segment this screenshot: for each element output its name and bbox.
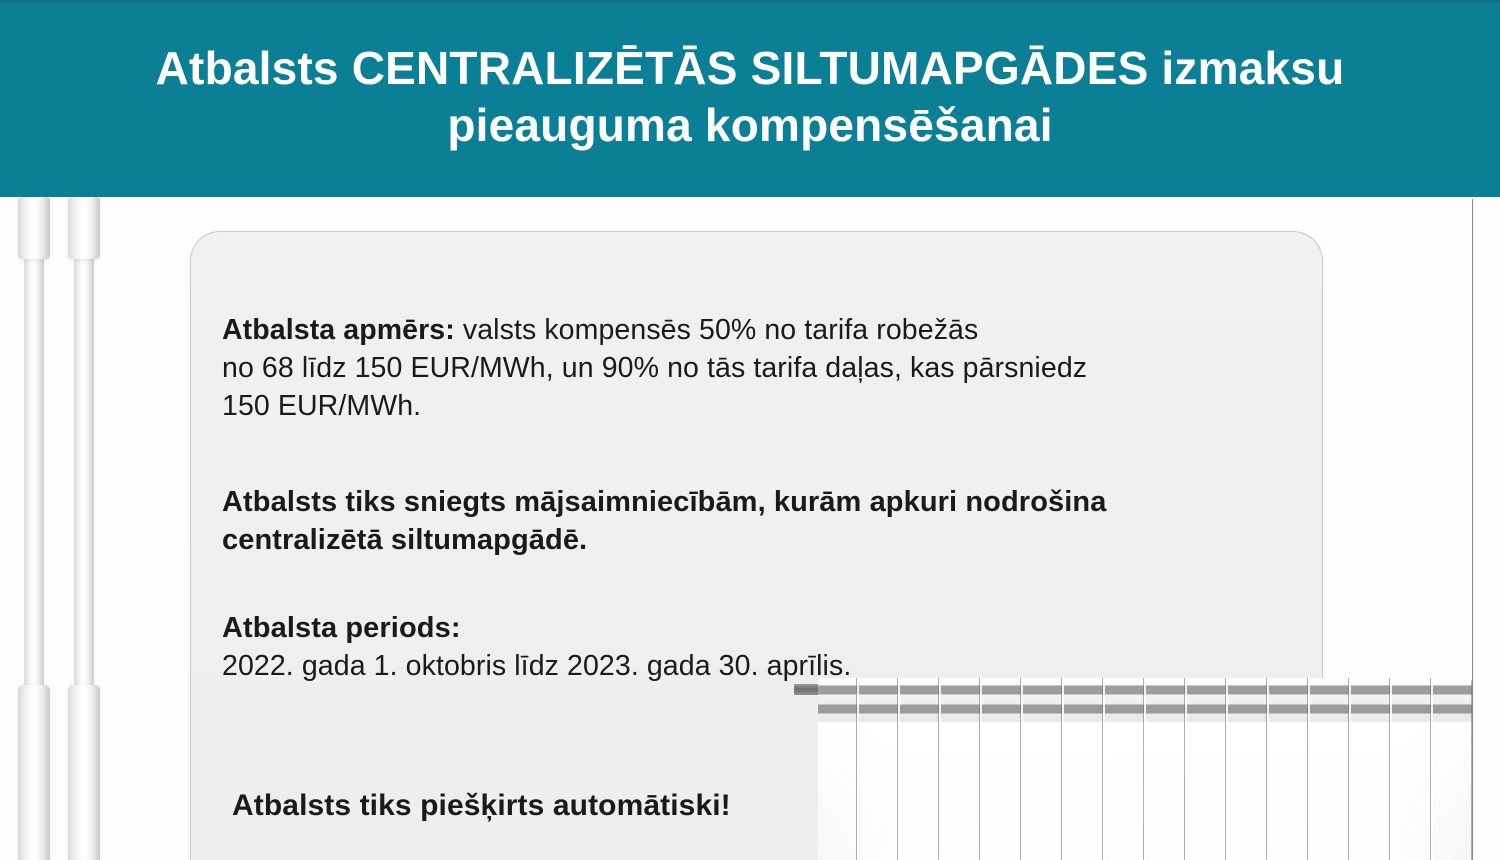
support-amount-line-2: no 68 līdz 150 EUR/MWh, un 90% no tās ta…	[222, 352, 1087, 384]
pipe-collar-top	[68, 197, 100, 259]
support-recipients-paragraph: Atbalsts tiks sniegts mājsaimniecībām, k…	[222, 425, 1282, 559]
page-title-line-2: pieauguma kompensēšanai	[80, 97, 1420, 154]
pipe-collar-top	[18, 197, 50, 259]
radiator-illustration	[818, 678, 1472, 860]
right-edge-rule	[1472, 199, 1473, 860]
radiator-fins	[818, 678, 1472, 860]
radiator-body	[818, 678, 1472, 860]
support-recipients-line-1: Atbalsts tiks sniegts mājsaimniecībām, k…	[222, 486, 1106, 518]
header-band: Atbalsts CENTRALIZĒTĀS SILTUMAPGĀDES izm…	[0, 0, 1500, 197]
support-period-heading: Atbalsta periods:	[222, 559, 1282, 647]
pipe-collar-bottom	[68, 685, 100, 860]
page-title-line-1: Atbalsts CENTRALIZĒTĀS SILTUMAPGĀDES izm…	[156, 42, 1345, 94]
support-amount-line-1-rest: valsts kompensēs 50% no tarifa robežās	[455, 314, 979, 346]
support-amount-label: Atbalsta apmērs:	[222, 314, 455, 346]
pipe-collar-bottom	[18, 685, 50, 860]
support-amount-line-3: 150 EUR/MWh.	[222, 390, 421, 422]
page-title: Atbalsts CENTRALIZĒTĀS SILTUMAPGĀDES izm…	[50, 40, 1450, 159]
support-recipients-line-2: centralizētā siltumapgādē.	[222, 524, 587, 556]
support-amount-paragraph: Atbalsta apmērs: valsts kompensēs 50% no…	[222, 311, 1282, 425]
infographic-poster: Atbalsts CENTRALIZĒTĀS SILTUMAPGĀDES izm…	[0, 0, 1500, 860]
